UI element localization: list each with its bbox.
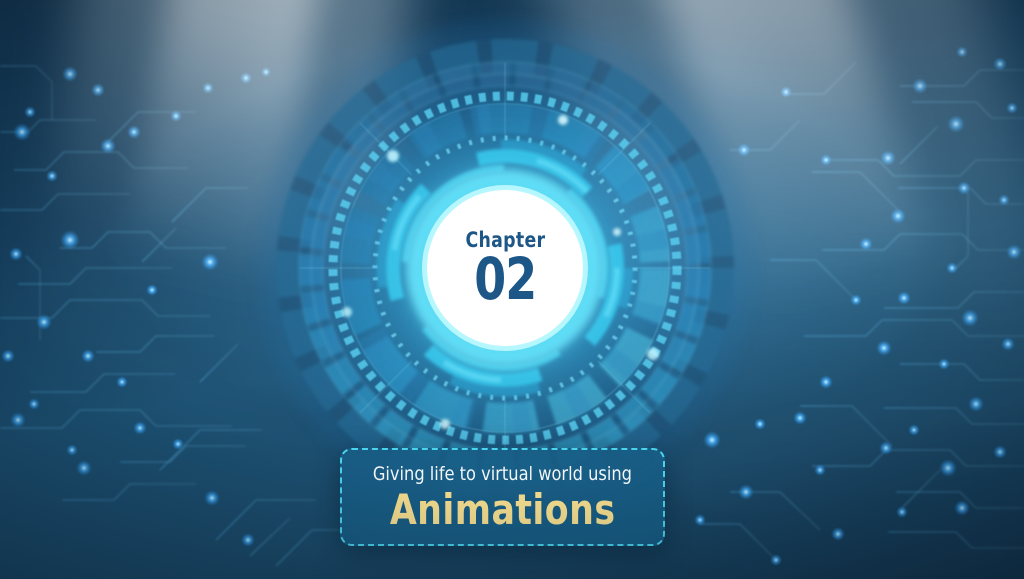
- slide-canvas: Chapter 02 Giving life to virtual world …: [0, 0, 1024, 579]
- caption-card: Giving life to virtual world using Anima…: [340, 448, 665, 546]
- chapter-number: 02: [474, 253, 536, 306]
- chapter-badge: Chapter 02: [427, 190, 583, 346]
- caption-title: Animations: [390, 488, 616, 532]
- caption-subtitle: Giving life to virtual world using: [373, 464, 632, 485]
